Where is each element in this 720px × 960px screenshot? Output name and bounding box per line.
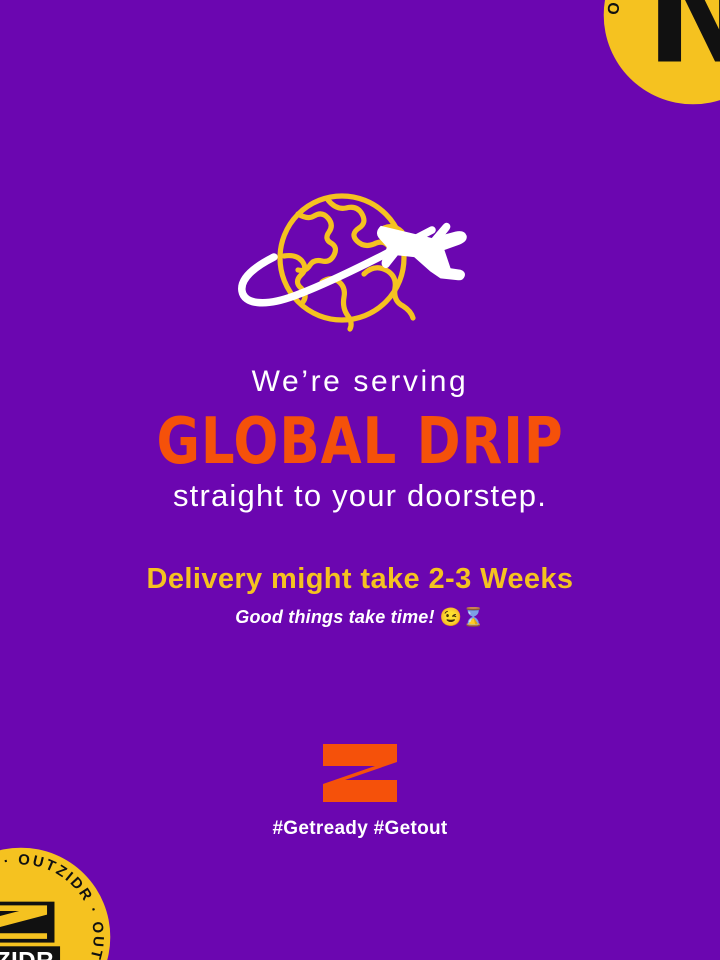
delivery-notice: Delivery might take 2-3 Weeks	[0, 564, 720, 594]
badge-center-letter-tr: N	[646, 0, 720, 95]
subhead-text: straight to your doorstep.	[0, 480, 720, 513]
brand-badge-top-right: OUTZIDR · OUTZIDR · OUTZIDR · N	[600, 0, 720, 108]
wink-hourglass-emoji: 😉⌛	[440, 607, 485, 627]
promo-poster: We’re serving GLOBAL DRIP straight to yo…	[0, 0, 720, 960]
page-title: GLOBAL DRIP	[29, 410, 691, 474]
hashtags-text: #Getready #Getout	[0, 818, 720, 840]
brand-z-logo-icon	[319, 742, 401, 804]
poster-copy: We’re serving GLOBAL DRIP straight to yo…	[0, 366, 720, 628]
eyebrow-text: We’re serving	[0, 366, 720, 398]
footer-lockup: #Getready #Getout	[0, 742, 720, 840]
globe-airplane-icon	[236, 178, 484, 344]
tagline: Good things take time! 😉⌛	[0, 608, 720, 628]
tagline-text: Good things take time!	[235, 607, 434, 627]
badge-wordmark-bl: OUTZIDR	[0, 948, 54, 960]
brand-badge-bottom-left: OUTZIDR · OUTZIDR · OUTZIDR · OUTZIDR	[0, 844, 114, 960]
